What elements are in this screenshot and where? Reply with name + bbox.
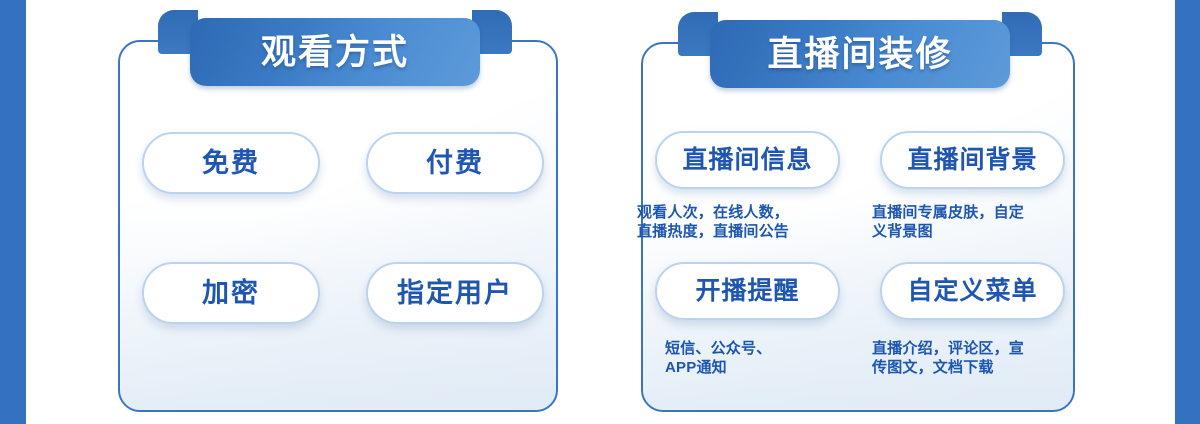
chip-live-room-background[interactable]: 直播间背景 — [880, 131, 1065, 189]
chip-label: 直播间信息 — [682, 148, 812, 173]
chip-live-room-info[interactable]: 直播间信息 — [655, 131, 840, 189]
chip-description-live-room-background: 直播间专属皮肤，自定 义背景图 — [872, 203, 1072, 241]
left-edge-bar — [0, 0, 26, 424]
chip-custom-menu[interactable]: 自定义菜单 — [880, 262, 1065, 320]
chip-label: 指定用户 — [397, 280, 513, 307]
panel-title-banner-watch-mode: 观看方式 — [190, 18, 480, 86]
page-title-watch-mode: 观看方式 — [261, 35, 409, 70]
chip-label: 免费 — [202, 150, 260, 177]
chip-broadcast-reminder[interactable]: 开播提醒 — [655, 262, 840, 320]
chip-label: 付费 — [426, 150, 484, 177]
chip-description-broadcast-reminder: 短信、公众号、 APP通知 — [665, 339, 865, 377]
chip-label: 直播间背景 — [907, 148, 1037, 173]
chip-paid[interactable]: 付费 — [366, 132, 544, 194]
chip-specified-users[interactable]: 指定用户 — [366, 262, 544, 324]
chip-label: 加密 — [202, 280, 260, 307]
page-root: 观看方式 免费 付费 加密 指定用户 直播间装修 直播间信息 直播间背景 开播提… — [0, 0, 1200, 424]
chip-label: 自定义菜单 — [907, 279, 1037, 304]
chip-description-custom-menu: 直播介绍，评论区，宣 传图文，文档下载 — [872, 339, 1077, 377]
chip-encrypted[interactable]: 加密 — [142, 262, 320, 324]
panel-watch-mode — [118, 40, 558, 412]
panel-title-banner-live-room-decoration: 直播间装修 — [710, 20, 1010, 88]
page-title-live-room-decoration: 直播间装修 — [767, 37, 952, 72]
chip-description-live-room-info: 观看人次，在线人数， 直播热度，直播间公告 — [637, 203, 852, 241]
chip-label: 开播提醒 — [695, 279, 799, 304]
chip-free[interactable]: 免费 — [142, 132, 320, 194]
right-edge-bar — [1175, 0, 1200, 424]
